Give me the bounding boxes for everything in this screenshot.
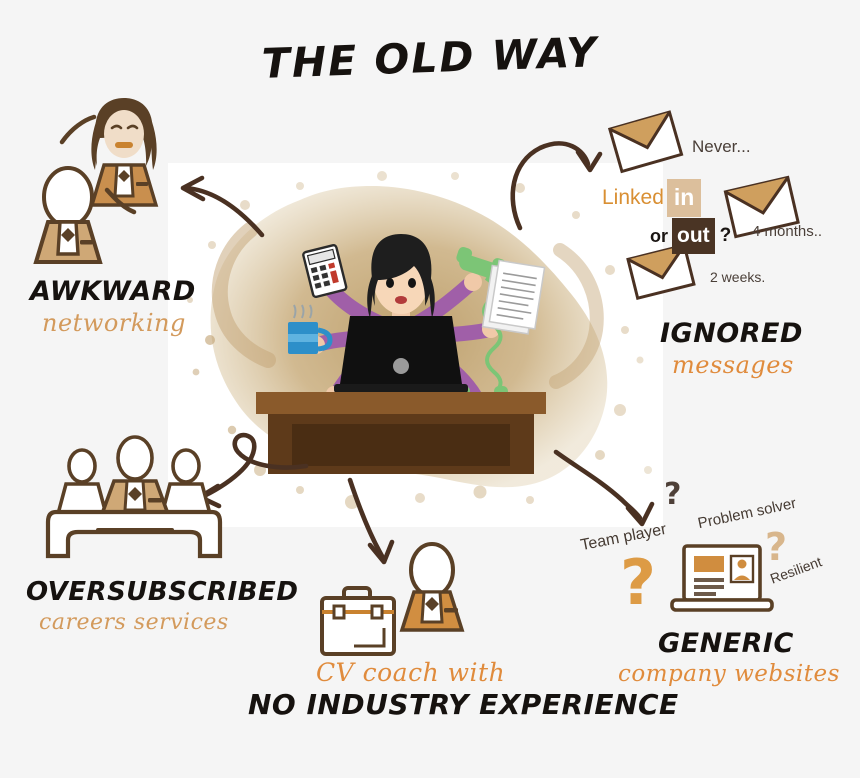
label-ignored-sub: messages <box>672 351 803 379</box>
question-mark-medium: ? <box>765 528 787 566</box>
note-four-months: 4 months.. <box>752 223 822 240</box>
label-oversubscribed-main: OVERSUBSCRIBED <box>26 577 298 607</box>
briefcase-icon <box>322 588 394 654</box>
linkedin-question-mark: ? <box>720 225 732 247</box>
label-awkward-sub: networking <box>42 309 196 337</box>
linkedin-out-chip: out <box>672 218 715 254</box>
label-ignored-main: IGNORED <box>660 318 803 349</box>
or-word: or <box>650 226 668 247</box>
networking-arcs <box>62 117 134 212</box>
person-blank-icon <box>36 168 100 262</box>
note-two-weeks: 2 weeks. <box>710 269 765 285</box>
linkedin-word: Linked <box>602 186 664 210</box>
laptop-website-icon <box>672 546 772 610</box>
person-frustrated-icon <box>91 98 156 205</box>
label-oversubscribed-careers: OVERSUBSCRIBED careers services <box>26 577 298 635</box>
infographic-canvas: THE OLD WAY AWKWARD networking OVERSUBSC… <box>0 0 860 778</box>
label-awkward-main: AWKWARD <box>30 276 196 307</box>
label-cv-coach: CV coach with NO INDUSTRY EXPERIENCE <box>248 658 679 721</box>
label-awkward-networking: AWKWARD networking <box>30 276 196 337</box>
person-suit-icon <box>402 544 462 630</box>
label-ignored-messages: IGNORED messages <box>660 318 803 379</box>
linkedin-out-row: or out ? <box>650 218 731 254</box>
center-white-panel <box>168 163 663 527</box>
label-oversubscribed-sub: careers services <box>39 610 298 635</box>
label-cv-coach-main: NO INDUSTRY EXPERIENCE <box>248 688 679 721</box>
linkedin-in-chip: in <box>667 179 701 217</box>
linkedin-in-row: Linked in <box>602 179 701 217</box>
label-generic-main: GENERIC <box>658 628 840 659</box>
page-title: THE OLD WAY <box>0 19 860 97</box>
question-mark-small: ? <box>664 480 681 510</box>
question-mark-large: ? <box>620 552 656 614</box>
label-cv-coach-sub: CV coach with <box>316 658 679 687</box>
note-never: Never... <box>692 137 751 157</box>
